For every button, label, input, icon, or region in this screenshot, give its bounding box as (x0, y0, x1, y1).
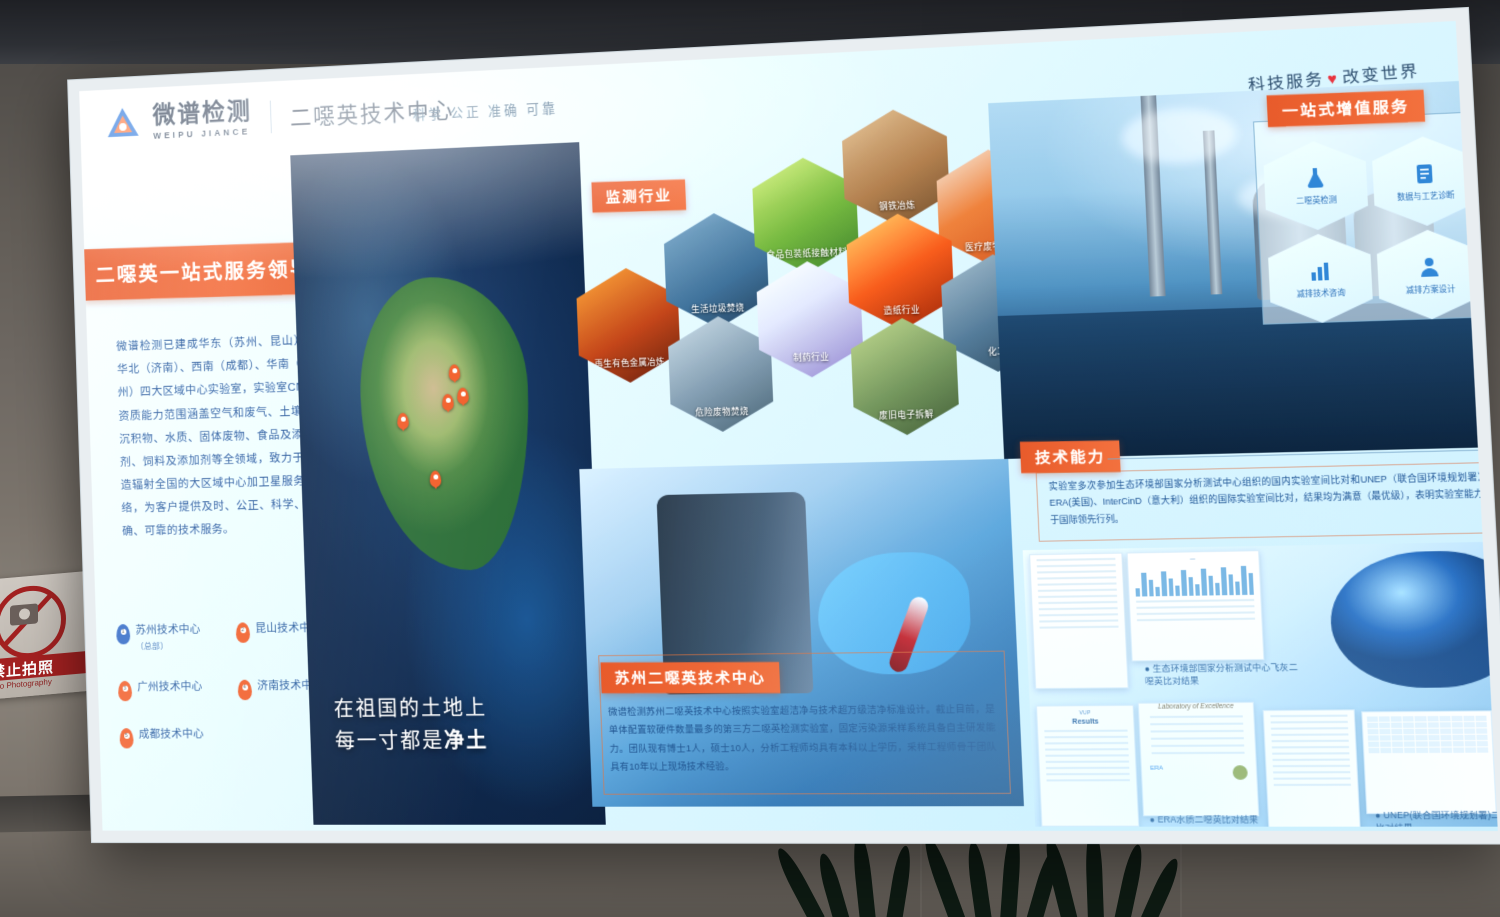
map-pin-suzhou (442, 394, 454, 411)
certificate-caption: ● ERA水质二噁英比对结果 (1149, 814, 1298, 826)
certificate-caption: ● 生态环境部国家分析测试中心飞灰二噁英比对结果 (1144, 662, 1304, 688)
industry-label: 造纸行业 (849, 302, 955, 318)
blood-tube-shape (887, 594, 931, 674)
industry-label: 钢铁冶炼 (845, 198, 950, 214)
industry-hexagon[interactable]: 造纸行业 (845, 212, 955, 332)
industry-label: 危险废物焚烧 (671, 404, 774, 419)
map-pin-guangzhou (429, 471, 441, 488)
cooling-tower (1252, 175, 1349, 300)
center-name: 成都技术中心 (139, 728, 205, 743)
mini-table (1362, 711, 1493, 757)
company-description: 微谱检测已建成华东（苏州、昆山）、华北（济南）、西南（成都）、华南（广州）四大区… (116, 328, 319, 543)
service-hexagon[interactable]: 数据与工艺诊断 (1371, 134, 1479, 227)
tagline-left: 科技服务 (1248, 71, 1326, 95)
location-pin-icon: 1 (116, 624, 130, 644)
service-label: 数据与工艺诊断 (1397, 190, 1455, 203)
plant-leaf (1141, 856, 1183, 917)
map-headline-emphasis: 净土 (444, 729, 489, 752)
service-hexagon-grid: 二噁英检测数据与工艺诊断减排技术咨询减排方案设计 (1263, 134, 1498, 325)
header-divider (270, 101, 272, 134)
certificate-issuer: VUP (1037, 710, 1133, 717)
industry-hexagon[interactable]: 生活垃圾焚烧 (663, 211, 770, 330)
industry-hexagon[interactable]: 钢铁冶炼 (841, 107, 951, 228)
center-item-1[interactable]: 1苏州技术中心（总部） (116, 623, 220, 654)
china-map-photo: 在祖国的土地上 每一寸都是净土 (290, 142, 605, 825)
service-label: 减排方案设计 (1406, 284, 1456, 296)
center-note: （总部） (136, 640, 169, 650)
certificate-caption: ● UNEP(联合国环境规划署)二噁英比对结果 (1375, 810, 1498, 827)
tagline-right: 改变世界 (1342, 63, 1421, 87)
document-icon (1411, 160, 1438, 186)
industry-label: 医疗废物焚烧 (939, 238, 1046, 254)
industry-hexagon-cluster: 再生有色金属冶炼生活垃圾焚烧食品包装纸接触材料钢铁冶炼医疗废物焚烧危险废物焚烧制… (566, 106, 997, 450)
map-headline: 在祖国的土地上 每一寸都是净土 (333, 691, 488, 758)
center-item-3[interactable]: 3广州技术中心 (118, 680, 222, 701)
service-hexagon[interactable]: 减排技术咨询 (1267, 232, 1374, 324)
center-name: 苏州技术中心（总部） (135, 623, 201, 654)
weipu-logo-icon (107, 107, 139, 141)
industry-hexagon[interactable]: 医疗废物焚烧 (935, 147, 1046, 268)
lightbox-display-board: 微谱检测 WEIPU JIANCE 二噁英技术中心 科学 公正 准确 可靠 科技… (42, 42, 1462, 842)
plant-leaf (1114, 843, 1146, 917)
photographed-scene: 禁止拍照 No Photography 微谱检测 WEIPU JIANCE 二噁… (0, 0, 1500, 917)
power-plant-photo (988, 80, 1498, 459)
poster-panel: 微谱检测 WEIPU JIANCE 二噁英技术中心 科学 公正 准确 可靠 科技… (79, 21, 1498, 831)
plant-leaf (851, 833, 876, 917)
industry-label: 废旧电子拆解 (854, 407, 960, 422)
certificate-title: Laboratory of Excellence (1139, 703, 1253, 711)
service-hexagon[interactable]: 二噁英检测 (1263, 139, 1370, 232)
certificate-thumbnail[interactable] (1029, 553, 1129, 690)
gloved-hand-shape (816, 551, 973, 675)
camera-glyph (10, 603, 38, 625)
center-name: 广州技术中心 (137, 680, 203, 696)
plant-leaf (886, 845, 914, 917)
industry-hexagon[interactable]: 食品包装纸接触材料 (751, 155, 860, 275)
technical-capability-tag: 技术能力 (1020, 440, 1121, 473)
industry-label: 化工 (944, 344, 1051, 359)
service-tag-wrap: 一站式增值服务 (1267, 89, 1426, 128)
blue-liquid-drop (1328, 550, 1498, 689)
corporate-tagline: 科技服务♥改变世界 (1247, 57, 1420, 96)
industry-label: 再生有色金属冶炼 (579, 355, 681, 370)
map-headline-line2: 每一寸都是 (335, 729, 445, 752)
sky-layer (988, 80, 1498, 459)
plant-leaf (772, 845, 825, 917)
map-pin-kunshan (457, 387, 469, 404)
certificate-title: Results (1038, 718, 1134, 726)
certificate-thumbnail[interactable] (1361, 710, 1497, 814)
industry-hexagon[interactable]: 制药行业 (756, 259, 865, 378)
flask-icon (1302, 165, 1329, 191)
industry-label: 食品包装纸接触材料 (755, 245, 859, 261)
smoke-plume (1120, 106, 1238, 166)
value-added-services-tag: 一站式增值服务 (1267, 90, 1426, 128)
certificate-thumbnail[interactable]: VUPResults (1036, 705, 1139, 827)
location-pin-icon: 2 (236, 622, 251, 643)
service-label: 二噁英检测 (1296, 195, 1337, 207)
smoke-plume (1237, 170, 1367, 220)
tech-text-box (1036, 462, 1498, 542)
technical-capability-description: 实验室多次参加生态环境部国家分析测试中心组织的国内实验室间比对和UNEP（联合国… (1048, 468, 1494, 528)
heart-icon: ♥ (1327, 70, 1340, 88)
center-item-5[interactable]: 5成都技术中心 (119, 728, 223, 749)
location-pin-icon: 4 (238, 680, 253, 701)
industry-hexagon[interactable]: 危险废物焚烧 (667, 315, 774, 433)
industry-label: 制药行业 (759, 350, 863, 365)
logo-text-cn: 微谱检测 (152, 100, 252, 129)
location-pin-icon: 5 (119, 728, 133, 748)
map-pin-jinan (448, 364, 460, 381)
tech-rule (1108, 449, 1498, 459)
certificate-thumbnail[interactable]: Laboratory of ExcellenceERA (1138, 702, 1260, 817)
mini-bar-chart (1128, 564, 1260, 597)
smokestack (1140, 82, 1166, 297)
certificates-background (1023, 541, 1498, 826)
plant-leaf (965, 841, 992, 917)
value-added-services-panel (1253, 111, 1498, 325)
industry-hexagon[interactable]: 再生有色金属冶炼 (575, 266, 681, 384)
cooling-tower (1352, 190, 1437, 297)
suzhou-center-description: 微谱检测苏州二噁英技术中心按照实验室超洁净与技术超万级洁净标准设计。截止目前，是… (608, 700, 998, 776)
bar-chart-icon (1306, 258, 1333, 284)
logo-text-en: WEIPU JIANCE (153, 126, 252, 140)
service-hexagon[interactable]: 减排方案设计 (1376, 228, 1484, 321)
map-pin-chengdu (397, 413, 409, 430)
water-reflection (998, 300, 1498, 459)
laboratory-photo: 苏州二噁英技术中心 微谱检测苏州二噁英技术中心按照实验室超洁净与技术超万级洁净标… (579, 459, 1024, 807)
industry-hexagon[interactable]: 化工 (940, 252, 1052, 373)
smokestack (1203, 131, 1222, 295)
seal-icon (1232, 765, 1248, 780)
industry-label: 生活垃圾焚烧 (666, 301, 769, 316)
service-label: 减排技术咨询 (1296, 287, 1345, 299)
certificates-area: —VUPResultsLaboratory of ExcellenceERA● … (1023, 541, 1498, 826)
location-pin-icon: 3 (118, 681, 132, 701)
person-icon (1416, 254, 1443, 280)
lab-tag-wrap: 苏州二噁英技术中心 (600, 661, 780, 694)
certificate-issuer: ERA (1150, 766, 1164, 781)
tech-tag-wrap: 技术能力 (1020, 440, 1121, 474)
suzhou-center-tag: 苏州二噁英技术中心 (600, 662, 780, 693)
board-frame: 微谱检测 WEIPU JIANCE 二噁英技术中心 科学 公正 准确 可靠 科技… (67, 7, 1500, 845)
plant-leaf (920, 834, 966, 917)
industry-hexagon[interactable]: 废旧电子拆解 (850, 316, 960, 436)
map-headline-line1: 在祖国的土地上 (333, 691, 487, 725)
certificate-thumbnail[interactable] (1263, 709, 1361, 826)
poster-header: 微谱检测 WEIPU JIANCE 二噁英技术中心 (107, 90, 455, 143)
certificate-thumbnail[interactable]: — (1127, 550, 1265, 661)
